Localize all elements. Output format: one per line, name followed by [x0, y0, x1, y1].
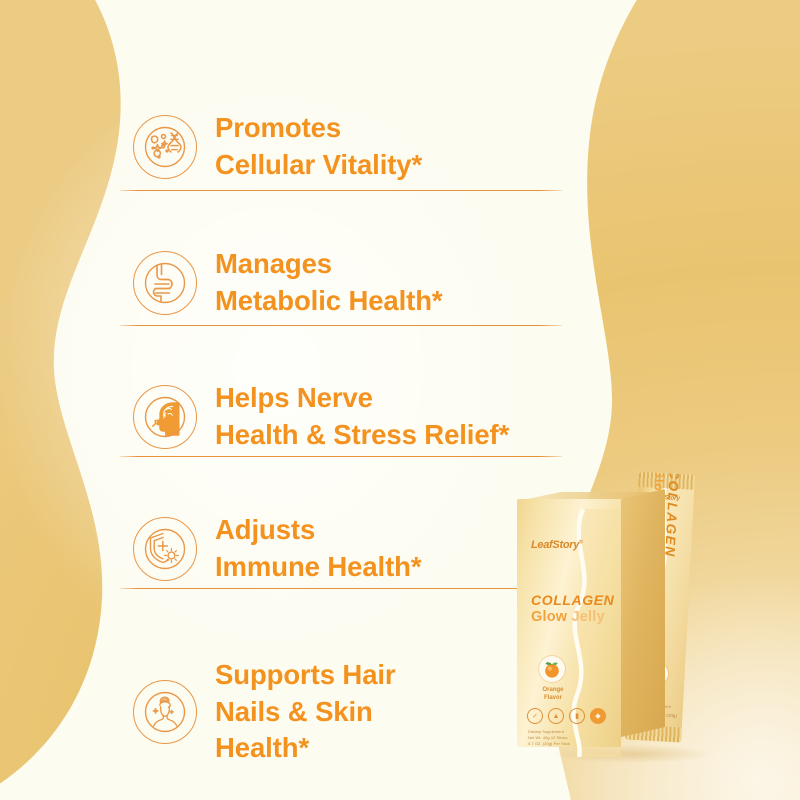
cell-dna-icon — [133, 115, 197, 179]
carton-title-collagen: COLLAGEN — [531, 592, 614, 608]
benefit-row-nerve-health: Helps Nerve Health & Stress Relief* — [133, 380, 509, 453]
orange-fruit-glyph — [541, 658, 563, 680]
intestine-icon — [133, 251, 197, 315]
benefit-row-hair-nails-skin: Supports Hair Nails & Skin Health* — [133, 657, 396, 767]
brain-head-icon — [133, 385, 197, 449]
carton-title-jelly: Jelly — [571, 609, 604, 625]
benefit-divider-4 — [120, 588, 562, 589]
carton-title-glow-jelly: Glow Jelly — [531, 609, 614, 625]
badge-icon-2: ▲ — [548, 708, 564, 724]
badge-icon-4: ◆ — [590, 708, 606, 724]
carton-side-brand: LeafStory — [715, 601, 725, 711]
carton-brand: LeafStory® — [531, 539, 582, 551]
benefit-label: Promotes Cellular Vitality* — [215, 110, 422, 183]
carton-side-face: LeafStory — [621, 489, 665, 737]
product-carton-box: LeafStory LeafStory® COLLAGEN Glow Jelly — [517, 489, 667, 747]
benefit-row-metabolic-health: Manages Metabolic Health* — [133, 246, 443, 319]
benefit-row-immune-health: Adjusts Immune Health* — [133, 512, 421, 585]
carton-flavor-label: Orange Flavor — [525, 686, 581, 702]
carton-brand-text: LeafStory — [531, 539, 579, 551]
carton-fine-print: Dietary Supplement Net Wt. 40g 12 Sticks… — [528, 729, 570, 747]
benefit-label: Manages Metabolic Health* — [215, 246, 443, 319]
benefit-label: Adjusts Immune Health* — [215, 512, 421, 585]
benefit-row-cellular-vitality: Promotes Cellular Vitality* — [133, 110, 422, 183]
carton-brand-trademark: ® — [579, 539, 582, 545]
benefit-label: Helps Nerve Health & Stress Relief* — [215, 380, 509, 453]
carton-certification-badges: ✓ ▲ ▮ ◆ — [527, 708, 606, 724]
benefit-divider-1 — [120, 190, 562, 191]
benefit-divider-2 — [120, 325, 562, 326]
carton-front-face: LeafStory® COLLAGEN Glow Jelly Orange Fl… — [517, 499, 621, 747]
shield-virus-icon — [133, 517, 197, 581]
carton-title-glow: Glow — [531, 609, 567, 625]
woman-face-icon — [133, 680, 197, 744]
carton-title: COLLAGEN Glow Jelly — [531, 592, 614, 625]
product-packshot: LeafStory COLLAGEN Glow Jelly Dietary Su… — [505, 455, 800, 800]
badge-icon-1: ✓ — [527, 708, 543, 724]
benefit-label: Supports Hair Nails & Skin Health* — [215, 657, 396, 767]
benefit-divider-3 — [120, 456, 562, 457]
carton-orange-fruit-icon — [539, 656, 565, 682]
badge-icon-3: ▮ — [569, 708, 585, 724]
